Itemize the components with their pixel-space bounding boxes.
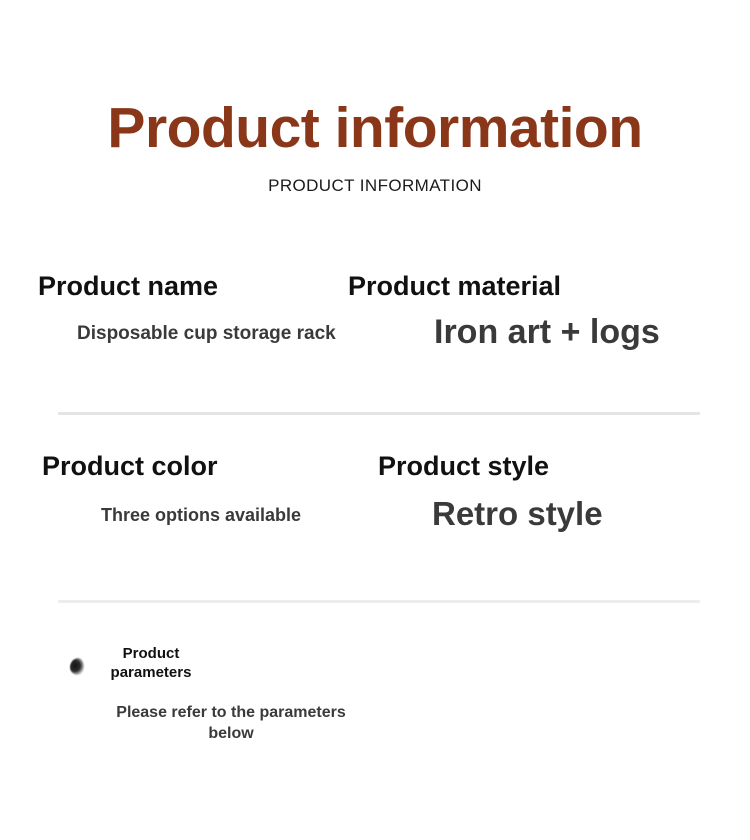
- page-header: Product information PRODUCT INFORMATION: [0, 100, 750, 196]
- section-divider: [58, 600, 700, 603]
- spec-row: Product name Disposable cup storage rack…: [0, 272, 750, 382]
- product-information-page: Product information PRODUCT INFORMATION …: [0, 0, 750, 840]
- bullet-dot-icon: [70, 658, 84, 675]
- spec-label-product-name: Product name: [38, 272, 345, 302]
- page-subtitle: PRODUCT INFORMATION: [0, 176, 750, 196]
- spec-value-product-parameters: Please refer to the parameters below: [100, 703, 362, 745]
- spec-cell-product-color: Product color Three options available: [0, 452, 345, 525]
- spec-cell-product-style: Product style Retro style: [345, 452, 750, 533]
- spec-value-product-color: Three options available: [101, 505, 345, 526]
- page-title: Product information: [0, 100, 750, 157]
- product-parameters-block: Product parameters Please refer to the p…: [0, 645, 420, 687]
- spec-cell-product-material: Product material Iron art + logs: [345, 272, 750, 352]
- spec-label-product-parameters: Product parameters: [105, 645, 197, 683]
- spec-value-product-name: Disposable cup storage rack: [77, 323, 345, 345]
- spec-label-product-style: Product style: [378, 452, 750, 482]
- spec-cell-product-name: Product name Disposable cup storage rack: [0, 272, 345, 345]
- product-parameters-heading: Product parameters: [0, 645, 420, 687]
- spec-value-product-material: Iron art + logs: [434, 313, 750, 352]
- spec-label-product-color: Product color: [42, 452, 345, 482]
- spec-label-product-material: Product material: [348, 272, 750, 302]
- spec-row: Product color Three options available Pr…: [0, 452, 750, 562]
- section-divider: [58, 412, 700, 415]
- spec-value-product-style: Retro style: [432, 495, 750, 533]
